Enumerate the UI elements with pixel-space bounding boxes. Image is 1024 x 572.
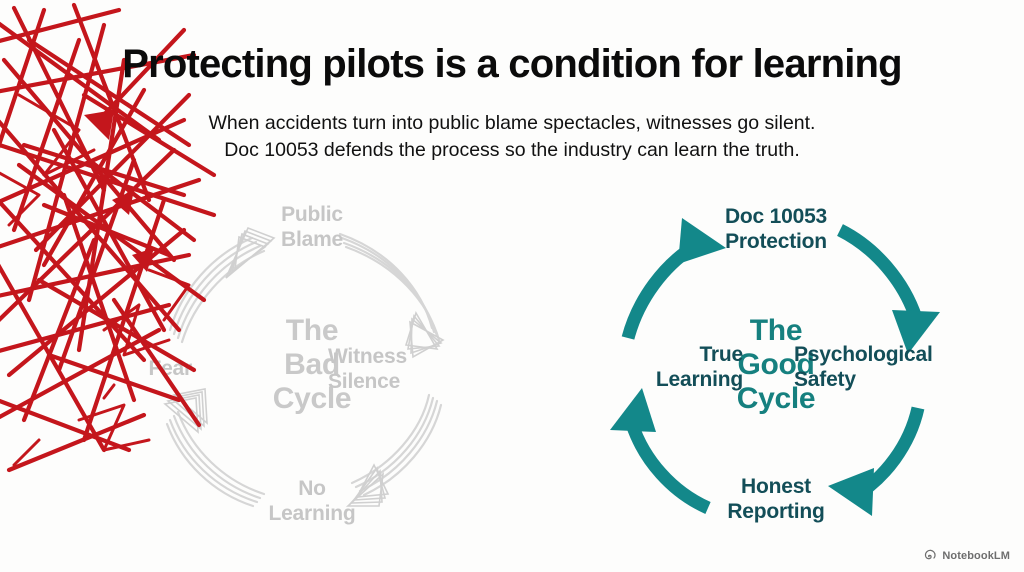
- bad-node-witness-silence: Witness Silence: [328, 344, 543, 394]
- bad-node-no-learning: No Learning: [202, 476, 422, 526]
- bad-node-witness-silence-line-1: Witness: [328, 345, 407, 368]
- good-node-doc-10053-line-2: Protection: [725, 230, 827, 253]
- good-node-honest-reporting-line-1: Honest: [741, 475, 811, 498]
- good-node-true-learning-line-2: Learning: [656, 368, 743, 391]
- subtitle-line-1: When accidents turn into public blame sp…: [0, 110, 1024, 137]
- page-title: Protecting pilots is a condition for lea…: [0, 42, 1024, 87]
- notebooklm-logo-icon: [924, 549, 937, 562]
- bad-center-line-1: The: [286, 314, 338, 347]
- bad-node-public-blame: Public Blame: [202, 202, 422, 252]
- bad-node-no-learning-line-2: Learning: [268, 502, 355, 525]
- good-node-doc-10053-protection: Doc 10053 Protection: [666, 204, 886, 254]
- good-node-psychological-safety: Psychological Safety: [794, 342, 1009, 392]
- good-node-psychological-safety-line-1: Psychological: [794, 343, 933, 366]
- good-cycle-diagram: The Good Cycle Doc 10053 Protection Psyc…: [556, 186, 996, 556]
- bad-node-witness-silence-line-2: Silence: [328, 370, 400, 393]
- good-node-true-learning-line-1: True: [699, 343, 743, 366]
- slide-canvas: Protecting pilots is a condition for lea…: [0, 0, 1024, 572]
- bad-node-public-blame-line-2: Blame: [281, 228, 343, 251]
- good-node-honest-reporting: Honest Reporting: [666, 474, 886, 524]
- notebooklm-watermark: NotebookLM: [924, 549, 1010, 562]
- watermark-label: NotebookLM: [942, 550, 1010, 562]
- bad-node-public-blame-line-1: Public: [281, 203, 343, 226]
- page-subtitle: When accidents turn into public blame sp…: [0, 110, 1024, 164]
- subtitle-line-2: Doc 10053 defends the process so the ind…: [0, 137, 1024, 164]
- bad-node-no-learning-line-1: No: [298, 477, 326, 500]
- good-node-psychological-safety-line-2: Safety: [794, 368, 856, 391]
- bad-node-fear-line-1: Fear: [148, 357, 192, 380]
- good-node-honest-reporting-line-2: Reporting: [727, 500, 824, 523]
- good-node-doc-10053-line-1: Doc 10053: [725, 205, 827, 228]
- good-node-true-learning: True Learning: [528, 342, 743, 392]
- bad-node-fear: Fear: [82, 356, 192, 381]
- bad-cycle-diagram: The Bad Cycle Public Blame Witness Silen…: [92, 186, 532, 556]
